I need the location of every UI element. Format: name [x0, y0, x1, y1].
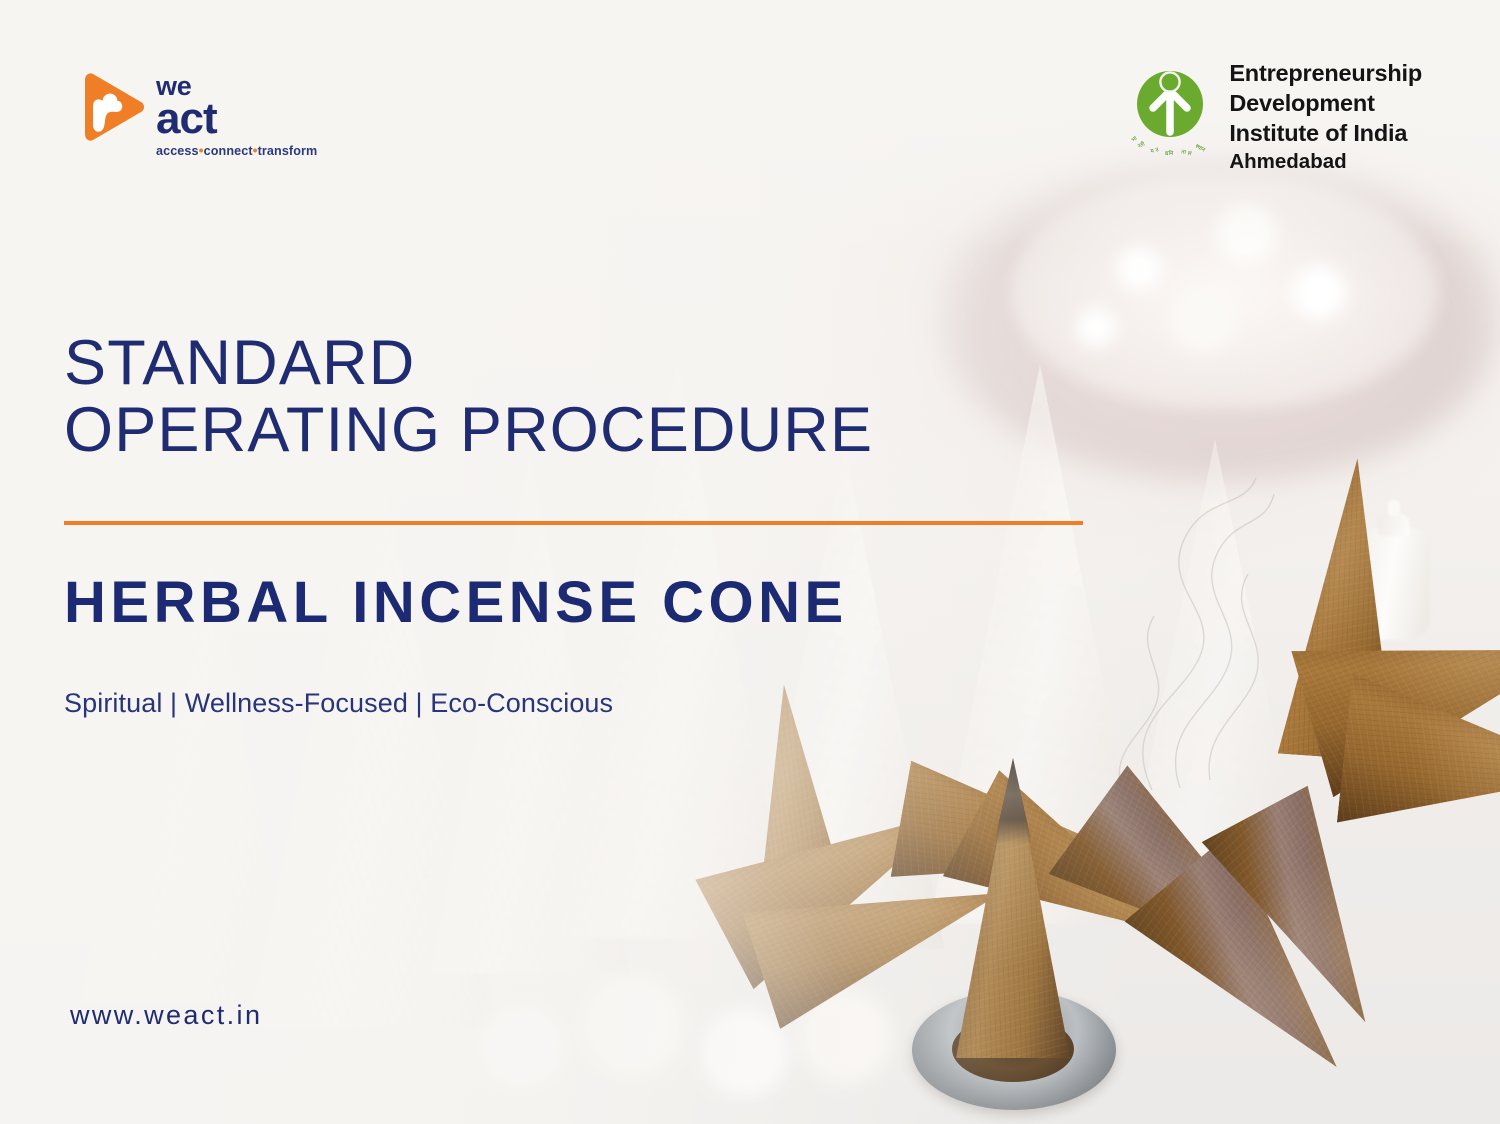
- orange-divider: [64, 521, 1083, 525]
- weact-tagline: access•connect•transform: [156, 142, 317, 158]
- edii-circle-person-icon: भा रती य उ द्यमि ता सं स्थान: [1127, 60, 1213, 158]
- cover-content: we act access•connect•transform भा रती य…: [0, 0, 1500, 1124]
- weact-tagline-access: access: [156, 144, 199, 158]
- edii-wordmark: Entrepreneurship Development Institute o…: [1229, 58, 1422, 176]
- weact-play-person-icon: [80, 72, 146, 142]
- product-tagline: Spiritual | Wellness-Focused | Eco-Consc…: [64, 688, 613, 719]
- svg-text:भा: भा: [1131, 135, 1139, 143]
- weact-tagline-connect: connect: [204, 144, 253, 158]
- weact-word-act: act: [156, 98, 317, 139]
- sop-cover-page: we act access•connect•transform भा रती य…: [0, 0, 1500, 1124]
- website-url[interactable]: www.weact.in: [70, 1000, 262, 1031]
- edii-line-3: Institute of India: [1229, 118, 1422, 148]
- edii-logo[interactable]: भा रती य उ द्यमि ता सं स्थान Entrepreneu…: [1127, 58, 1422, 176]
- svg-text:य उ: य उ: [1150, 147, 1160, 155]
- edii-city: Ahmedabad: [1229, 149, 1422, 176]
- page-title-line-1: STANDARD: [64, 330, 1094, 397]
- svg-text:द्यमि: द्यमि: [1165, 149, 1174, 157]
- page-title-line-2: OPERATING PROCEDURE: [64, 397, 1094, 464]
- weact-logo[interactable]: we act access•connect•transform: [80, 72, 317, 158]
- svg-text:स्थान: स्थान: [1194, 143, 1207, 154]
- svg-text:ता सं: ता सं: [1181, 148, 1193, 157]
- weact-wordmark: we act access•connect•transform: [156, 72, 317, 158]
- product-title: HERBAL INCENSE CONE: [64, 572, 848, 635]
- edii-line-2: Development: [1229, 88, 1422, 118]
- edii-line-1: Entrepreneurship: [1229, 58, 1422, 88]
- weact-tagline-transform: transform: [258, 144, 318, 158]
- page-title: STANDARD OPERATING PROCEDURE: [64, 330, 1094, 465]
